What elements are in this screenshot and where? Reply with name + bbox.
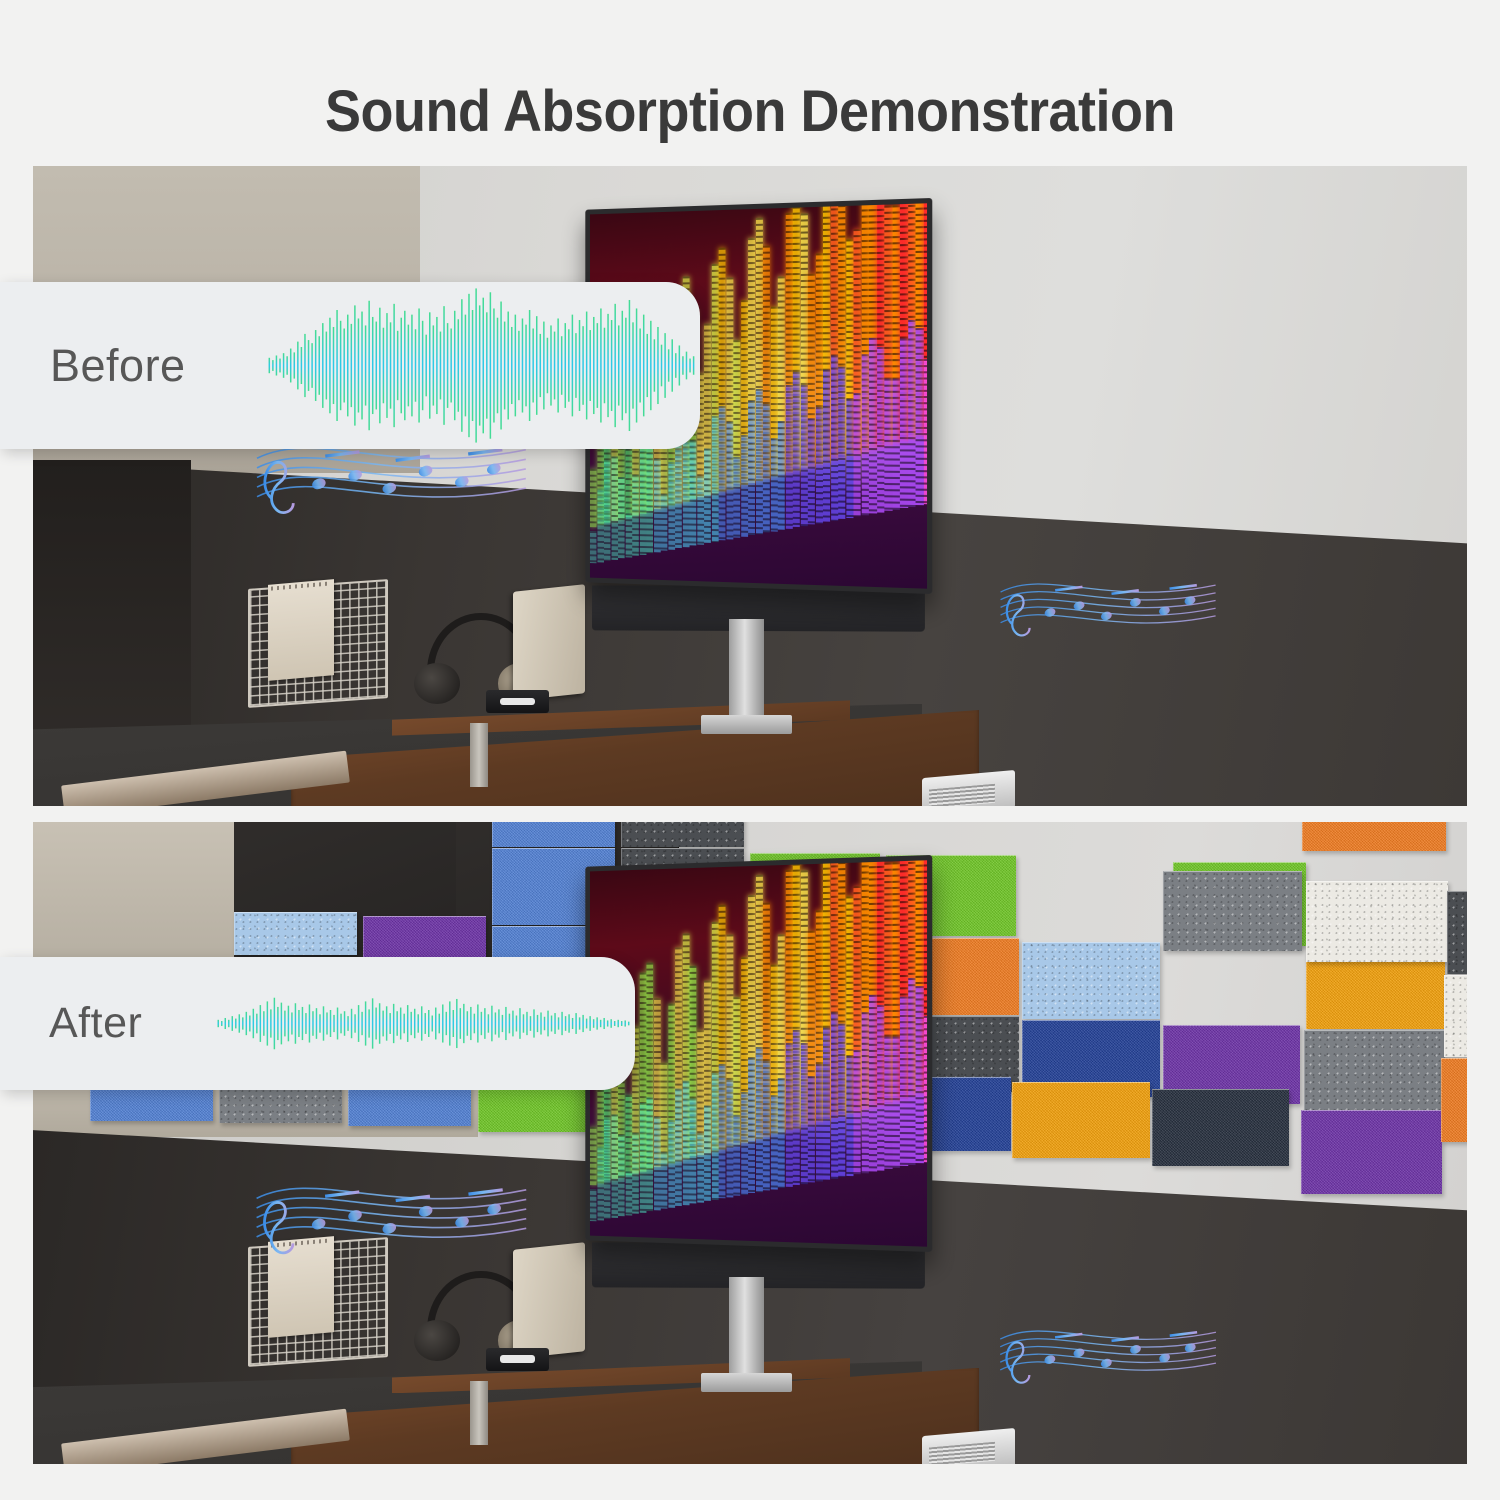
acoustic-panel-dark-navy bbox=[1152, 1089, 1289, 1166]
acoustic-panel-mid-gray bbox=[1304, 1030, 1446, 1111]
acoustic-panel-mid-gray bbox=[1163, 871, 1302, 952]
spectrum-visualization bbox=[590, 860, 927, 1247]
acoustic-panel-dark-gray bbox=[621, 822, 744, 847]
after-label: After bbox=[49, 999, 214, 1048]
before-waveform bbox=[265, 282, 700, 449]
riser-leg bbox=[470, 1381, 487, 1445]
page-title: Sound Absorption Demonstration bbox=[53, 78, 1448, 145]
before-label: Before bbox=[50, 340, 265, 392]
acoustic-panel-purple bbox=[1301, 1110, 1443, 1194]
tablet-stand bbox=[513, 1242, 585, 1359]
acoustic-panel-orange bbox=[1441, 1058, 1467, 1142]
riser-leg bbox=[470, 723, 487, 787]
monitor-screen bbox=[585, 854, 932, 1251]
acoustic-panel-light-blue-speckle bbox=[234, 912, 357, 955]
acoustic-panel-blue bbox=[492, 822, 615, 847]
after-waveform bbox=[214, 957, 635, 1090]
headphone-cup-left bbox=[414, 663, 460, 704]
acoustic-panel-amber bbox=[1012, 1082, 1149, 1158]
acoustic-panel-orange bbox=[1302, 822, 1446, 851]
notepad bbox=[268, 1236, 334, 1338]
tablet-dock bbox=[486, 690, 549, 713]
tablet-stand bbox=[513, 585, 585, 701]
monitor-base bbox=[701, 1373, 792, 1392]
monitor-stand bbox=[729, 1277, 764, 1377]
before-scene-photo bbox=[33, 166, 1467, 806]
room-without-panels bbox=[33, 166, 1467, 806]
acoustic-panel-dark-gray bbox=[1447, 891, 1467, 973]
monitor-stand bbox=[729, 619, 764, 719]
after-scene-photo bbox=[33, 822, 1467, 1464]
acoustic-panel-light-blue-speckle bbox=[1022, 942, 1159, 1019]
acoustic-panel-white-speckle bbox=[1444, 975, 1467, 1057]
tablet-dock bbox=[486, 1348, 549, 1371]
monitor-base bbox=[701, 715, 792, 734]
acoustic-panel-white-speckle bbox=[1306, 881, 1448, 962]
room-with-panels bbox=[33, 822, 1467, 1464]
notepad bbox=[268, 579, 334, 681]
before-waveform-card: Before bbox=[0, 282, 700, 449]
after-waveform-card: After bbox=[0, 957, 635, 1090]
